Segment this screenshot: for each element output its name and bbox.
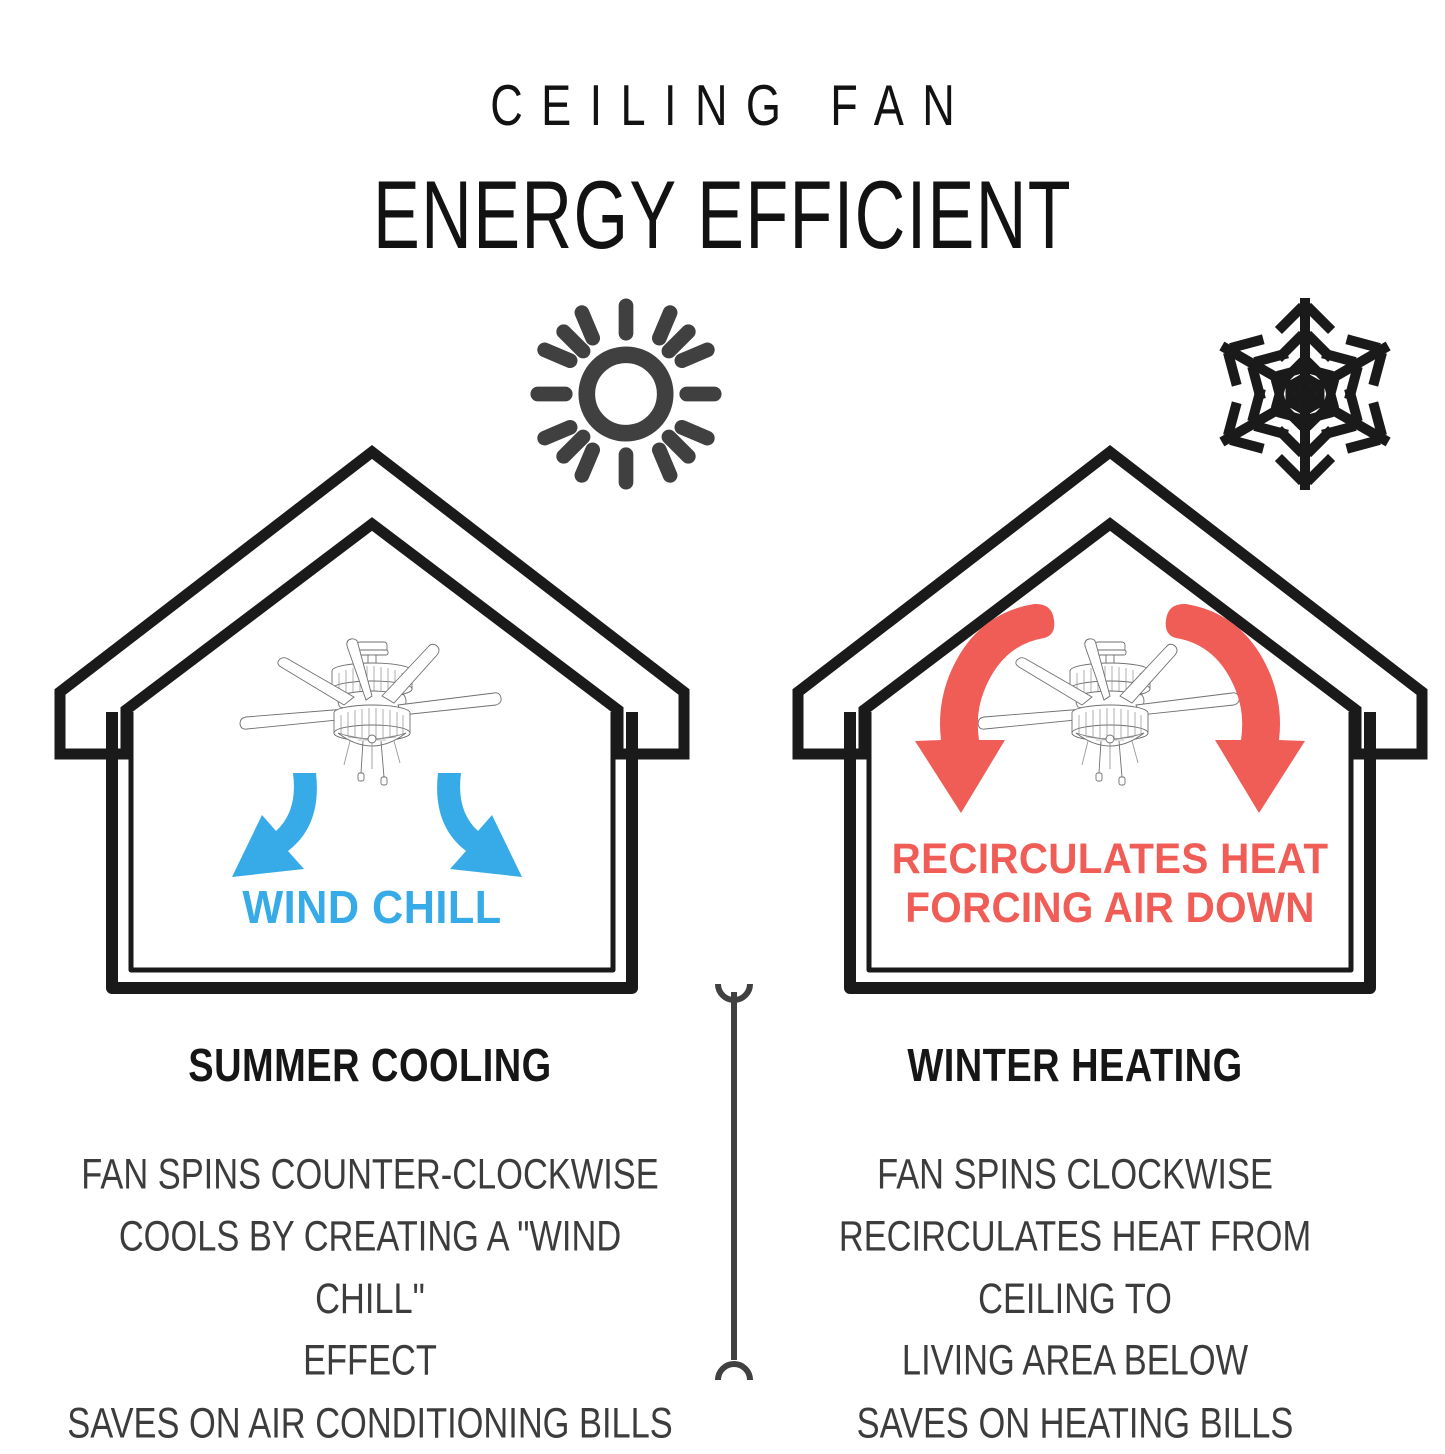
page-title: ENERGY EFFICIENT — [72, 118, 1373, 272]
column-body-summer: FAN SPINS COUNTER-CLOCKWISE COOLS BY CRE… — [63, 1085, 677, 1454]
infographic-canvas: CEILING FAN ENERGY EFFICIENT — [0, 0, 1445, 1445]
inner-label-summer: WIND CHILL — [71, 882, 673, 934]
panel-winter: RECIRCULATES HEAT FORCING AIR DOWN — [790, 440, 1430, 1000]
column-body-winter: FAN SPINS CLOCKWISE RECIRCULATES HEAT FR… — [768, 1085, 1382, 1454]
eyebrow-title: CEILING FAN — [58, 0, 1387, 139]
column-summer: SUMMER COOLING FAN SPINS COUNTER-CLOCKWI… — [40, 1040, 700, 1409]
header: CEILING FAN ENERGY EFFICIENT — [0, 0, 1445, 242]
column-winter: WINTER HEATING FAN SPINS CLOCKWISE RECIR… — [745, 1040, 1405, 1409]
panel-summer: WIND CHILL — [52, 440, 692, 1000]
inner-label-winter: RECIRCULATES HEAT FORCING AIR DOWN — [809, 835, 1411, 932]
